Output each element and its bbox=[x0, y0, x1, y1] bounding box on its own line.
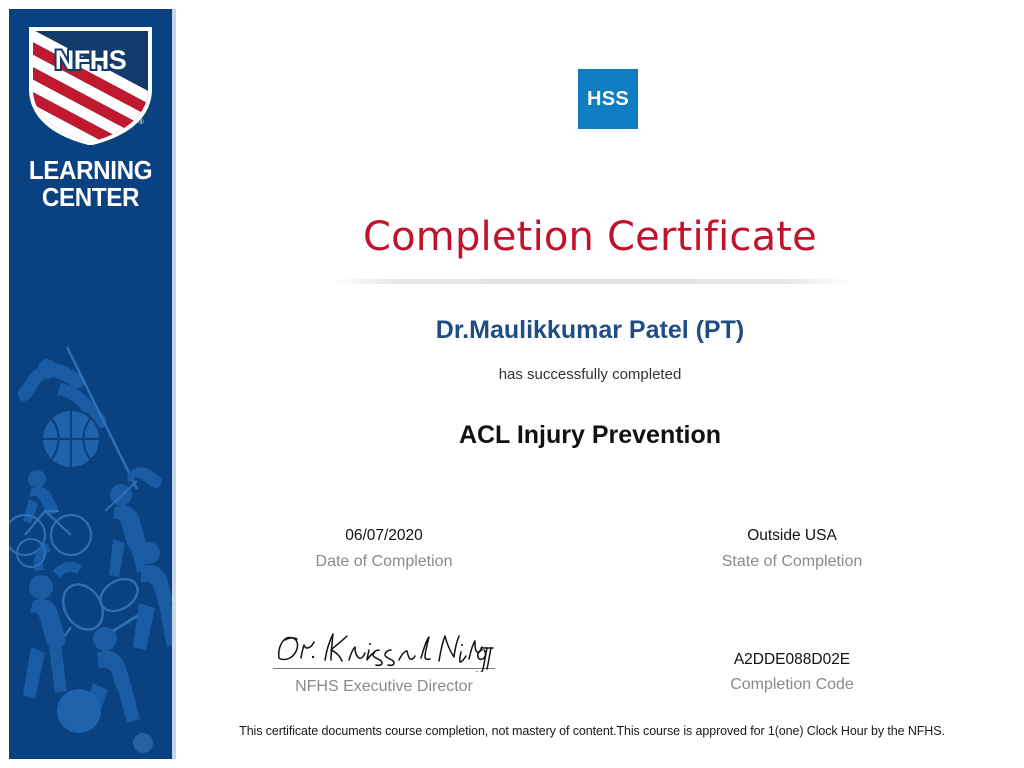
completion-statement: has successfully completed bbox=[176, 366, 1004, 383]
recipient-name: Dr.Maulikkumar Patel (PT) bbox=[176, 316, 1004, 345]
title-divider bbox=[331, 279, 851, 284]
state-of-completion-value: Outside USA bbox=[632, 526, 952, 546]
completion-certificate: NFHS ® LEARNING CENTER bbox=[0, 0, 1024, 768]
signature-rule bbox=[273, 668, 495, 669]
svg-text:®: ® bbox=[138, 118, 144, 126]
state-of-completion-field: Outside USA State of Completion bbox=[632, 526, 952, 573]
sports-silhouettes-artwork bbox=[9, 339, 172, 759]
nfhs-shield-icon: NFHS ® bbox=[25, 25, 156, 145]
date-of-completion-label: Date of Completion bbox=[224, 551, 544, 573]
learning-center-line-1: LEARNING bbox=[15, 157, 167, 184]
signature-block: NFHS Executive Director bbox=[224, 628, 544, 696]
completion-code-value: A2DDE088D02E bbox=[632, 651, 952, 669]
learning-center-line-2: CENTER bbox=[15, 184, 167, 211]
signature-label: NFHS Executive Director bbox=[224, 678, 544, 696]
state-of-completion-label: State of Completion bbox=[632, 551, 952, 573]
course-name: ACL Injury Prevention bbox=[176, 421, 1004, 450]
completion-code-field: A2DDE088D02E Completion Code bbox=[632, 651, 952, 694]
footer-disclaimer: This certificate documents course comple… bbox=[182, 724, 1002, 738]
date-of-completion-value: 06/07/2020 bbox=[224, 526, 544, 546]
executive-director-signature-icon bbox=[273, 628, 495, 672]
learning-center-wordmark: LEARNING CENTER bbox=[15, 157, 167, 210]
nfhs-logo: NFHS ® LEARNING CENTER bbox=[9, 9, 172, 224]
svg-text:NFHS: NFHS bbox=[55, 45, 127, 75]
date-of-completion-field: 06/07/2020 Date of Completion bbox=[224, 526, 544, 573]
certificate-title: Completion Certificate bbox=[176, 214, 1004, 260]
hss-logo-text: HSS bbox=[587, 88, 629, 111]
completion-code-label: Completion Code bbox=[632, 676, 952, 694]
hss-logo: HSS bbox=[578, 69, 638, 129]
certificate-body: HSS Completion Certificate Dr.Maulikkuma… bbox=[176, 0, 1024, 768]
certificate-sidebar: NFHS ® LEARNING CENTER bbox=[9, 9, 172, 759]
